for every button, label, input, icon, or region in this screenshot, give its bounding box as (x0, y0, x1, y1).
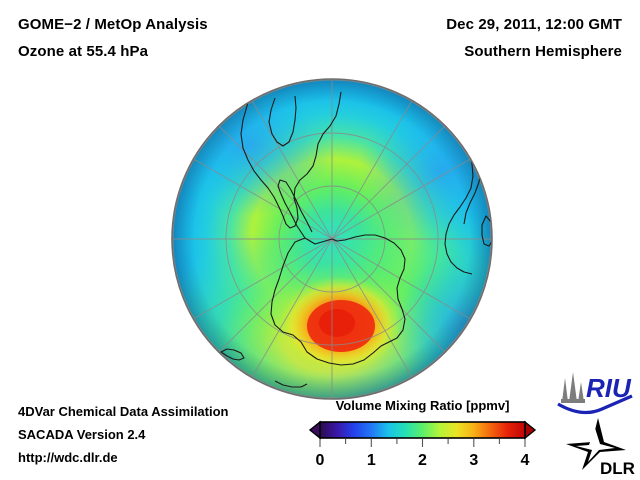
dlr-logo-text: DLR (600, 459, 635, 478)
colorbar-tick-label: 0 (316, 452, 325, 469)
footer-url[interactable]: http://wdc.dlr.de (18, 450, 118, 465)
datetime-label: Dec 29, 2011, 12:00 GMT (446, 16, 622, 33)
instrument-title: GOME−2 / MetOp Analysis (18, 16, 208, 33)
colorbar-arrow-left (310, 422, 320, 438)
footer-method: 4DVar Chemical Data Assimilation (18, 404, 229, 419)
colorbar-scale: 0 1 2 3 4 (300, 418, 545, 470)
logo-group: RIU DLR (552, 366, 638, 478)
colorbar-tick-label: 1 (367, 452, 376, 469)
quantity-subtitle: Ozone at 55.4 hPa (18, 43, 148, 60)
colorbar-arrow-right (525, 422, 535, 438)
colorbar-ticks (320, 439, 525, 447)
ozone-globe-map (155, 76, 510, 401)
colorbar-legend: Volume Mixing Ratio [ppmv] (300, 398, 545, 470)
footer-version: SACADA Version 2.4 (18, 427, 145, 442)
region-label: Southern Hemisphere (464, 43, 622, 60)
colorbar-tick-label: 4 (521, 452, 530, 469)
colorbar-tick-label: 3 (469, 452, 478, 469)
dlr-logo: DLR (566, 418, 635, 478)
colorbar-tick-label: 2 (418, 452, 427, 469)
colorbar-title: Volume Mixing Ratio [ppmv] (300, 398, 545, 413)
riu-logo: RIU (558, 372, 632, 413)
